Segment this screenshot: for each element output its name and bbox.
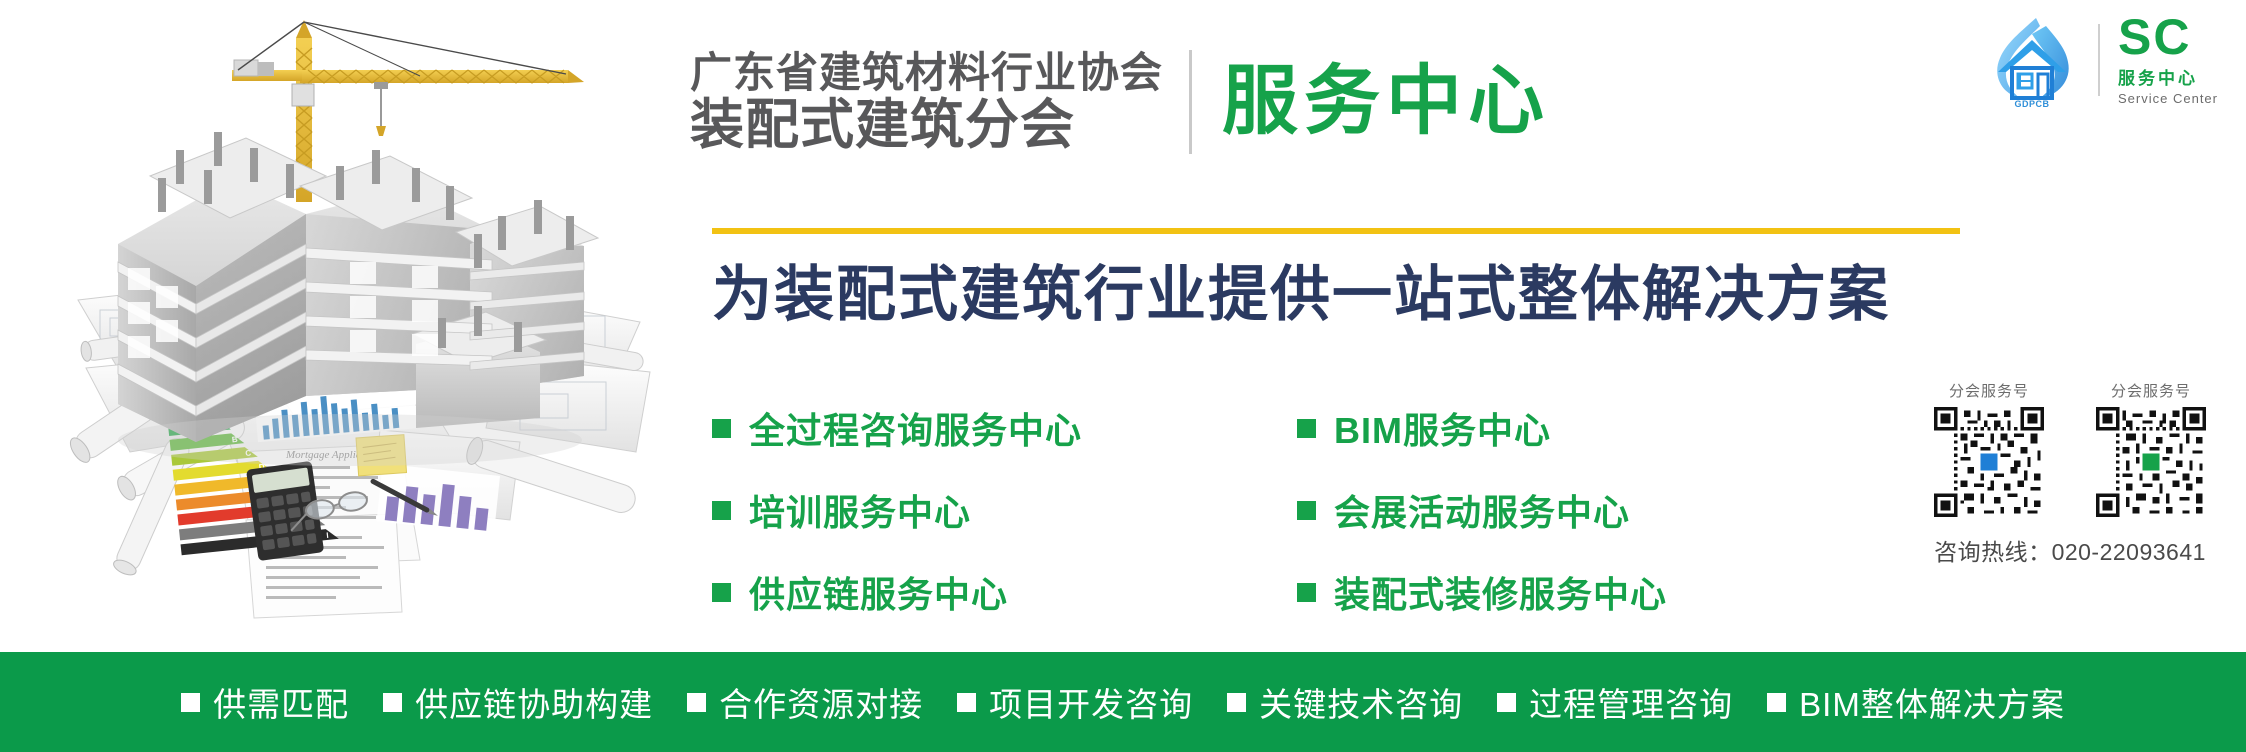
hotline-text: 咨询热线：020-22093641 <box>1920 533 2220 567</box>
service-list-left-column: 全过程咨询服务中心 培训服务中心 供应链服务中心 <box>712 400 1297 646</box>
header-vertical-divider <box>1189 50 1192 154</box>
square-bullet-icon <box>957 693 976 712</box>
service-center-heading: 服务中心 <box>1222 64 1550 140</box>
qr-code-caption: 分会服务号 <box>2111 380 2191 401</box>
service-center-list: 全过程咨询服务中心 培训服务中心 供应链服务中心 BIM服务中心 会展活动服务中… <box>712 400 1792 646</box>
service-item-label: 供应链服务中心 <box>749 566 1008 618</box>
footer-service-bar: 供需匹配 供应链协助构建 合作资源对接 项目开发咨询 关键技术咨询 过程管理咨询 <box>0 652 2246 752</box>
list-item[interactable]: 装配式装修服务中心 <box>1297 564 1792 620</box>
purple-bar-chart <box>377 464 500 534</box>
service-item-label: 装配式装修服务中心 <box>1334 566 1667 618</box>
footer-item-label: 合作资源对接 <box>719 678 923 726</box>
construction-illustration: Mortgage Application <box>0 0 660 645</box>
logo-chinese-label: 服务中心 <box>2118 64 2198 89</box>
footer-item[interactable]: 关键技术咨询 <box>1227 678 1463 726</box>
header-title-block: 广东省建筑材料行业协会 装配式建筑分会 服务中心 <box>690 42 1960 162</box>
square-bullet-icon <box>1297 583 1316 602</box>
footer-item[interactable]: 过程管理咨询 <box>1497 678 1733 726</box>
brand-logo[interactable]: GDPCB SC 服务中心 Service Center <box>1984 14 2218 106</box>
association-name-line1: 广东省建筑材料行业协会 <box>690 51 1163 95</box>
service-list-right-column: BIM服务中心 会展活动服务中心 装配式装修服务中心 <box>1297 400 1792 646</box>
house-flame-logo-icon: GDPCB <box>1984 14 2080 106</box>
house-icon <box>1984 14 2080 100</box>
logo-vertical-divider <box>2098 24 2100 96</box>
association-name: 广东省建筑材料行业协会 装配式建筑分会 <box>690 51 1189 153</box>
footer-item-label: 供需匹配 <box>213 678 349 726</box>
service-item-label: 会展活动服务中心 <box>1334 484 1630 536</box>
square-bullet-icon <box>712 583 731 602</box>
page-title: 为装配式建筑行业提供一站式整体解决方案 <box>712 262 1992 328</box>
square-bullet-icon <box>712 419 731 438</box>
square-bullet-icon <box>1497 693 1516 712</box>
list-item[interactable]: 供应链服务中心 <box>712 564 1297 620</box>
list-item[interactable]: 全过程咨询服务中心 <box>712 400 1297 456</box>
footer-item[interactable]: 供应链协助构建 <box>383 678 653 726</box>
square-bullet-icon <box>181 693 200 712</box>
qr-code-image-1[interactable] <box>1934 407 2044 517</box>
qr-code-caption: 分会服务号 <box>1949 380 2029 401</box>
square-bullet-icon <box>1297 419 1316 438</box>
footer-item-label: 关键技术咨询 <box>1259 678 1463 726</box>
qr-code-image-2[interactable] <box>2096 407 2206 517</box>
list-item[interactable]: 培训服务中心 <box>712 482 1297 538</box>
footer-item[interactable]: 合作资源对接 <box>687 678 923 726</box>
footer-item[interactable]: 项目开发咨询 <box>957 678 1193 726</box>
logo-wordmark: SC 服务中心 Service Center <box>2118 14 2218 107</box>
list-item[interactable]: BIM服务中心 <box>1297 400 1792 456</box>
footer-item-label: BIM整体解决方案 <box>1799 678 2065 726</box>
qr-code-cell[interactable]: 分会服务号 <box>2082 380 2220 517</box>
footer-item[interactable]: BIM整体解决方案 <box>1767 678 2065 726</box>
list-item[interactable]: 会展活动服务中心 <box>1297 482 1792 538</box>
square-bullet-icon <box>383 693 402 712</box>
footer-item-label: 项目开发咨询 <box>989 678 1193 726</box>
service-item-label: BIM服务中心 <box>1334 402 1551 454</box>
promotional-banner: Mortgage Application <box>0 0 2246 752</box>
square-bullet-icon <box>1297 501 1316 520</box>
square-bullet-icon <box>687 693 706 712</box>
logo-abbreviation: GDPCB <box>1984 99 2080 109</box>
footer-item-list: 供需匹配 供应链协助构建 合作资源对接 项目开发咨询 关键技术咨询 过程管理咨询 <box>164 678 2082 726</box>
contact-block: 分会服务号 <box>1920 380 2220 567</box>
logo-english-label: Service Center <box>2118 91 2218 106</box>
gold-divider-rule <box>712 228 1960 234</box>
construction-scene-graphic: Mortgage Application <box>0 0 660 645</box>
building-model <box>118 132 598 466</box>
square-bullet-icon <box>1767 693 1786 712</box>
footer-item-label: 供应链协助构建 <box>415 678 653 726</box>
service-item-label: 培训服务中心 <box>749 484 971 536</box>
square-bullet-icon <box>1227 693 1246 712</box>
association-name-line2: 装配式建筑分会 <box>690 97 1163 153</box>
qr-code-row: 分会服务号 <box>1920 380 2220 517</box>
qr-code-cell[interactable]: 分会服务号 <box>1920 380 2058 517</box>
logo-initials: SC <box>2118 14 2191 62</box>
footer-item-label: 过程管理咨询 <box>1529 678 1733 726</box>
footer-item[interactable]: 供需匹配 <box>181 678 349 726</box>
square-bullet-icon <box>712 501 731 520</box>
service-item-label: 全过程咨询服务中心 <box>749 402 1082 454</box>
